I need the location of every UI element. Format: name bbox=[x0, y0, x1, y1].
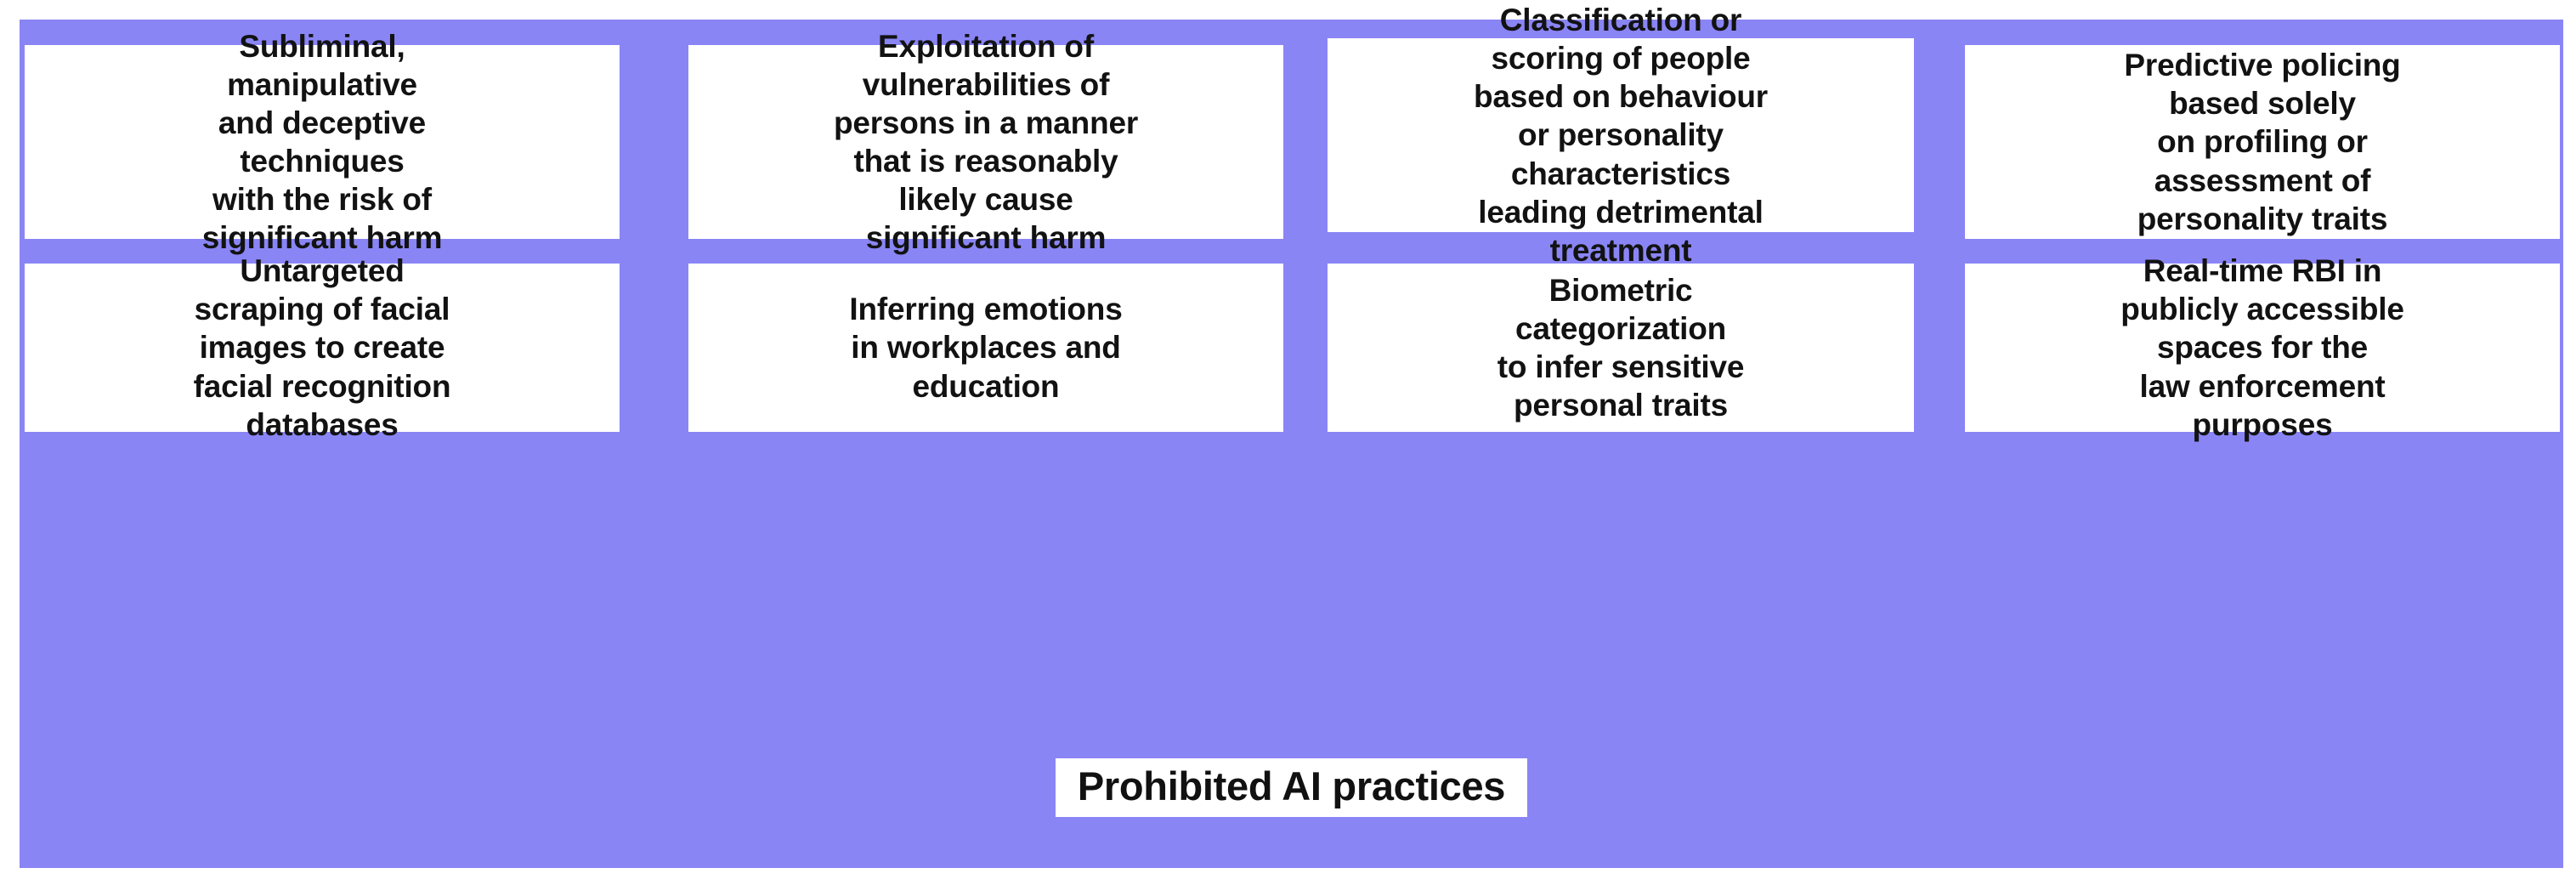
practice-card[interactable]: Predictive policing based solely on prof… bbox=[1965, 45, 2560, 239]
prohibited-practices-panel: Subliminal, manipulative and deceptive t… bbox=[20, 20, 2563, 868]
card-row-bottom: Untargeted scraping of facial images to … bbox=[20, 260, 2563, 547]
practice-card-text: Untargeted scraping of facial images to … bbox=[194, 252, 451, 444]
practice-card[interactable]: Biometric categorization to infer sensit… bbox=[1328, 264, 1914, 432]
practice-card-text: Biometric categorization to infer sensit… bbox=[1497, 271, 1744, 425]
card-cell-1-4: Predictive policing based solely on prof… bbox=[1965, 38, 2560, 239]
practice-card[interactable]: Real-time RBI in publicly accessible spa… bbox=[1965, 264, 2560, 432]
practice-card[interactable]: Exploitation of vulnerabilities of perso… bbox=[688, 45, 1283, 239]
infographic-root: Subliminal, manipulative and deceptive t… bbox=[0, 0, 2576, 885]
card-row-top: Subliminal, manipulative and deceptive t… bbox=[20, 38, 2563, 241]
card-grid: Subliminal, manipulative and deceptive t… bbox=[20, 20, 2563, 868]
card-cell-2-1: Untargeted scraping of facial images to … bbox=[25, 260, 620, 432]
practice-card-text: Subliminal, manipulative and deceptive t… bbox=[202, 27, 443, 258]
page-title: Prohibited AI practices bbox=[1078, 763, 1505, 808]
practice-card-text: Predictive policing based solely on prof… bbox=[2124, 46, 2400, 238]
practice-card-text: Classification or scoring of people base… bbox=[1474, 1, 1768, 269]
practice-card[interactable]: Untargeted scraping of facial images to … bbox=[25, 264, 620, 432]
title-banner-wrapper: Prohibited AI practices bbox=[20, 758, 2563, 817]
practice-card-text: Inferring emotions in workplaces and edu… bbox=[849, 290, 1122, 405]
card-cell-1-2: Exploitation of vulnerabilities of perso… bbox=[688, 38, 1283, 239]
practice-card-text: Real-time RBI in publicly accessible spa… bbox=[2120, 252, 2403, 444]
practice-card-text: Exploitation of vulnerabilities of perso… bbox=[834, 27, 1138, 258]
card-cell-1-1: Subliminal, manipulative and deceptive t… bbox=[25, 38, 620, 239]
card-cell-2-4: Real-time RBI in publicly accessible spa… bbox=[1965, 260, 2560, 432]
card-cell-2-2: Inferring emotions in workplaces and edu… bbox=[688, 260, 1283, 432]
practice-card[interactable]: Subliminal, manipulative and deceptive t… bbox=[25, 45, 620, 239]
card-cell-1-3: Classification or scoring of people base… bbox=[1328, 38, 1914, 232]
practice-card[interactable]: Inferring emotions in workplaces and edu… bbox=[688, 264, 1283, 432]
card-cell-2-3: Biometric categorization to infer sensit… bbox=[1328, 260, 1914, 432]
practice-card[interactable]: Classification or scoring of people base… bbox=[1328, 38, 1914, 232]
title-banner: Prohibited AI practices bbox=[1056, 758, 1527, 817]
